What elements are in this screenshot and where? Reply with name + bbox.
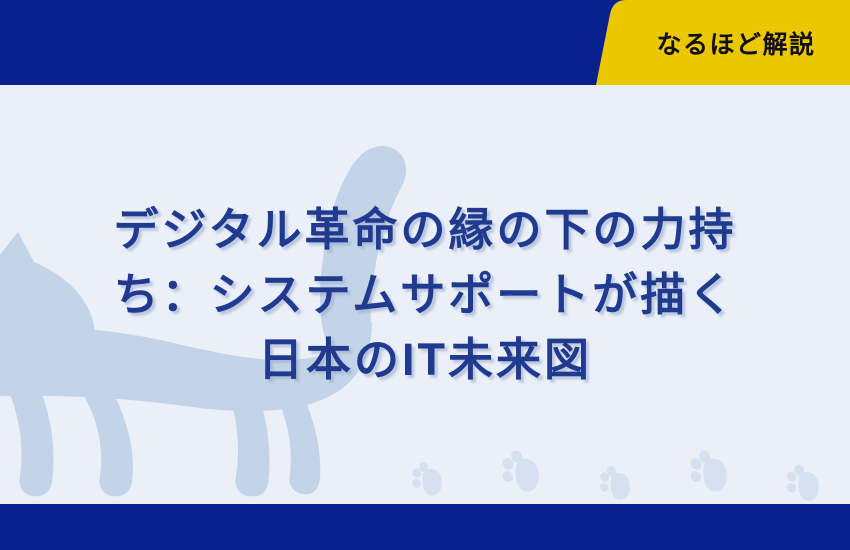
eyecatch-card: なるほど解説 デジタル革命の縁の下の力持 ち：システムサポートが描く 日本のIT… xyxy=(0,0,850,550)
bottom-bar xyxy=(0,504,850,550)
category-badge: なるほど解説 xyxy=(596,0,850,85)
category-badge-label: なるほど解説 xyxy=(596,0,850,85)
title-block: デジタル革命の縁の下の力持 ち：システムサポートが描く 日本のIT未来図 xyxy=(0,85,850,504)
page-title: デジタル革命の縁の下の力持 ち：システムサポートが描く 日本のIT未来図 xyxy=(113,197,736,393)
